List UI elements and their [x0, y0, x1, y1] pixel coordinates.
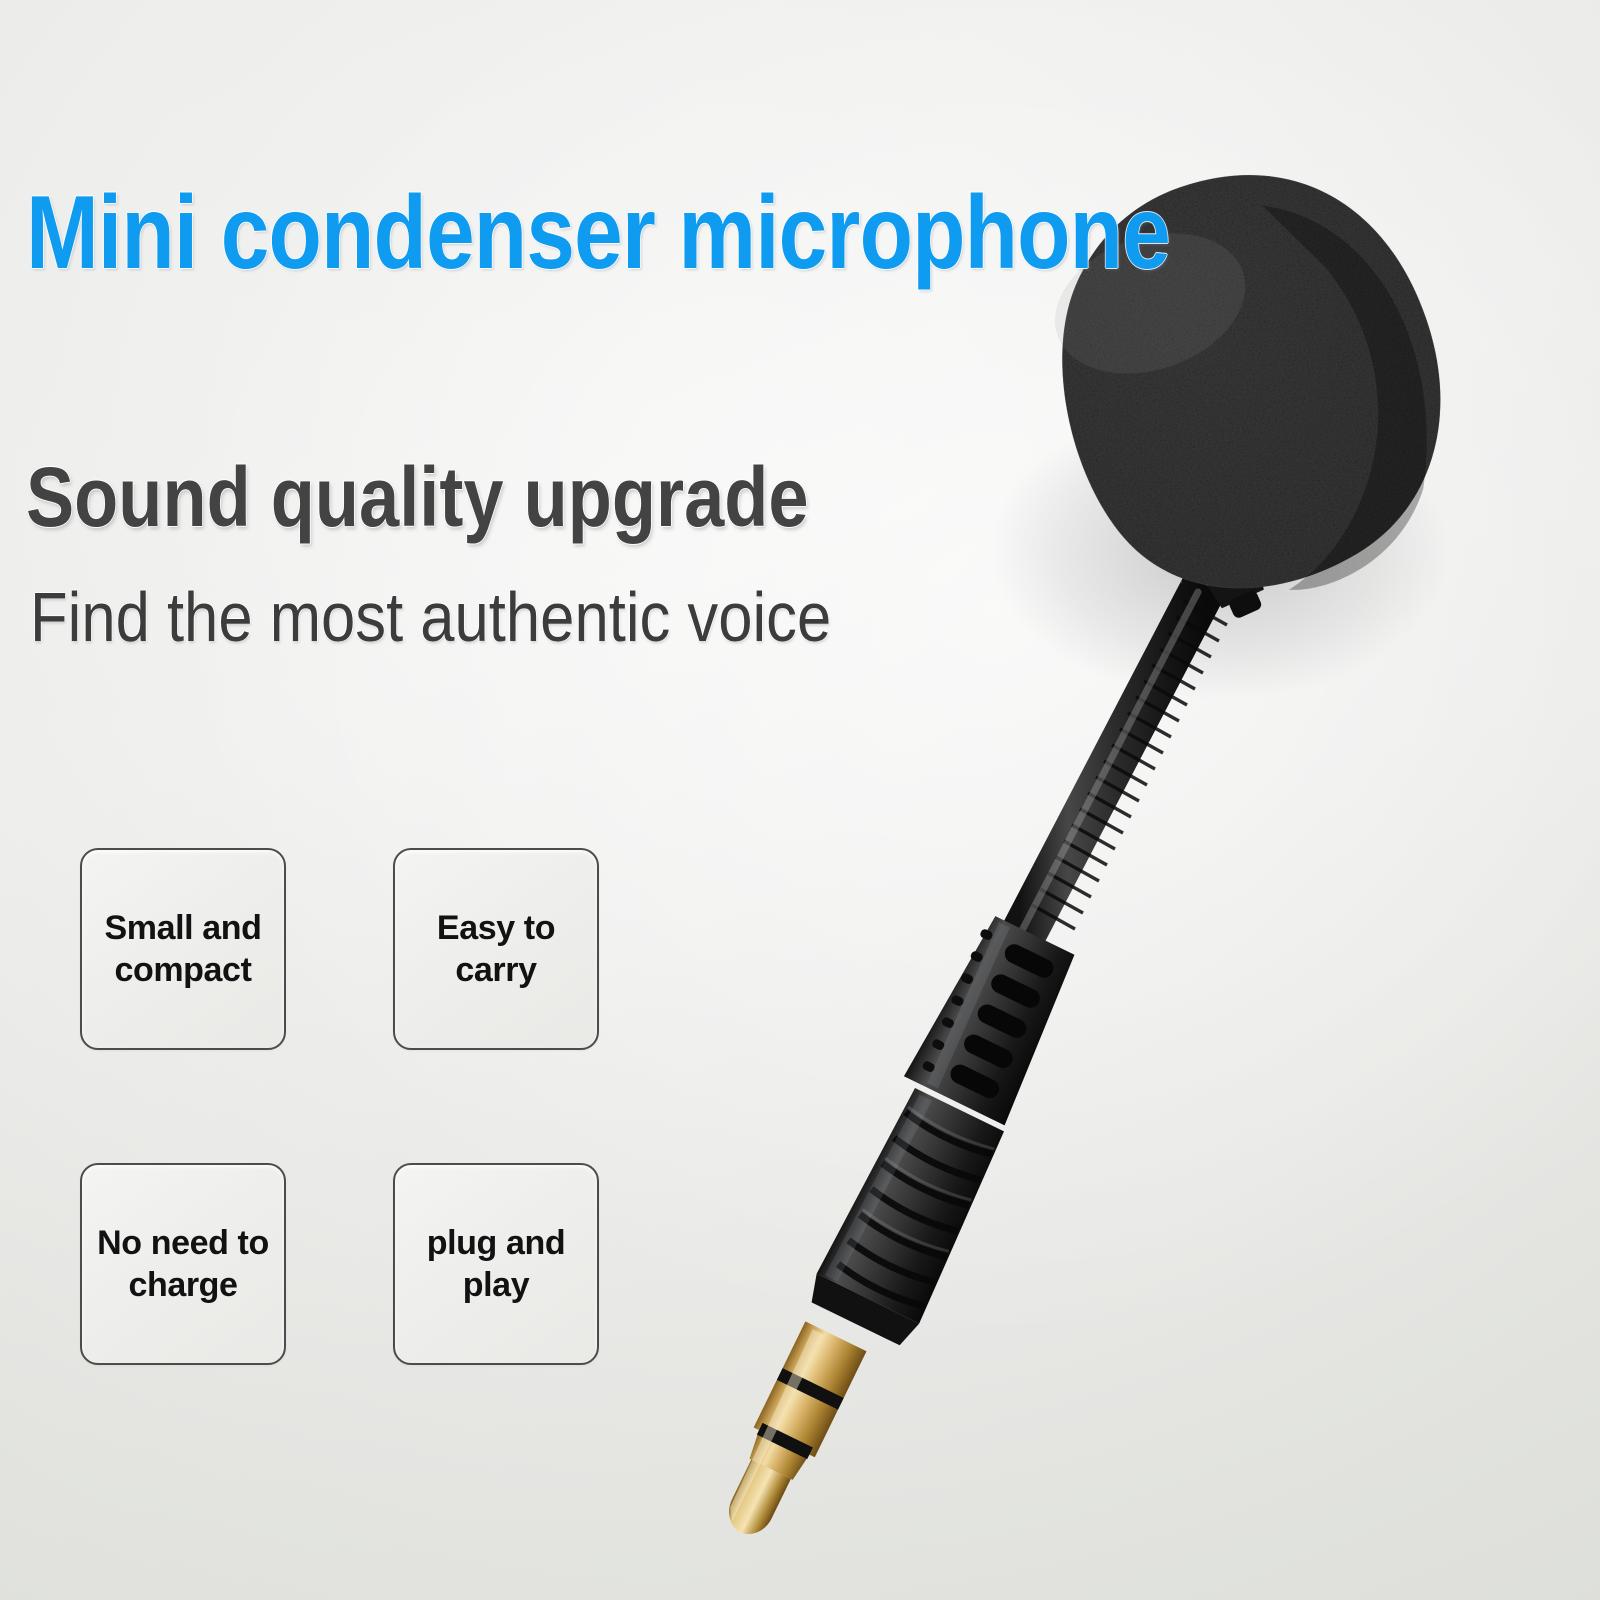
product-photo-microphone [620, 80, 1580, 1560]
subtitle: Sound quality upgrade [26, 455, 809, 539]
gold-trs-plug [710, 1321, 867, 1547]
tagline: Find the most authentic voice [30, 582, 831, 652]
feature-label: Small and compact [104, 907, 261, 991]
feature-box-plug-and-play: plug and play [393, 1163, 599, 1365]
feature-label: plug and play [427, 1222, 565, 1306]
ribbed-connector-body [804, 1085, 1011, 1349]
vented-strain-relief [904, 911, 1085, 1125]
feature-box-easy-to-carry: Easy to carry [393, 848, 599, 1050]
product-banner: Mini condenser microphone Sound quality … [0, 0, 1600, 1600]
page-title: Mini condenser microphone [26, 181, 1170, 285]
feature-box-no-need-to-charge: No need to charge [80, 1163, 286, 1365]
feature-label: No need to charge [97, 1222, 269, 1306]
feature-box-small-and-compact: Small and compact [80, 848, 286, 1050]
feature-grid: Small and compact Easy to carry No need … [80, 848, 600, 1383]
feature-label: Easy to carry [437, 907, 555, 991]
